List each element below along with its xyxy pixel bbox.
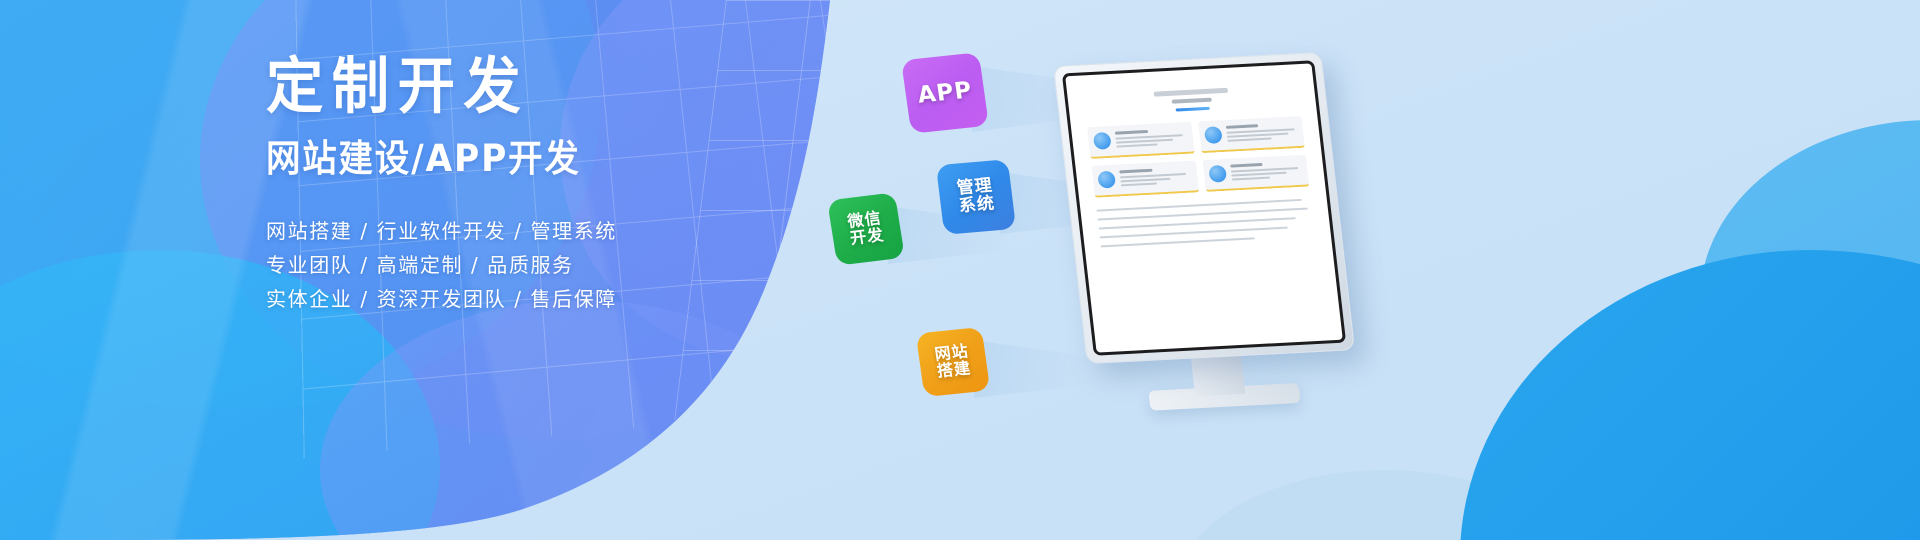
mockup-card-icon — [1093, 132, 1112, 150]
feature-line: 专业团队 / 高端定制 / 品质服务 — [266, 248, 786, 282]
mockup-paragraph-line — [1101, 237, 1255, 247]
monitor-illustration — [1053, 52, 1355, 364]
mockup-card-heading — [1225, 124, 1258, 129]
feature-list: 网站搭建 / 行业软件开发 / 管理系统 专业团队 / 高端定制 / 品质服务 … — [266, 214, 786, 316]
mockup-card-line — [1116, 143, 1158, 147]
mockup-subtitle-bar — [1172, 98, 1212, 104]
mockup-card-line — [1120, 173, 1186, 178]
mockup-card-line — [1230, 167, 1298, 173]
mockup-card-line — [1231, 172, 1287, 177]
service-card-wechat[interactable]: 微信 开发 — [827, 192, 905, 265]
mockup-card-body — [1225, 122, 1299, 144]
copy-block: 定制开发 网站建设/APP开发 网站搭建 / 行业软件开发 / 管理系统 专业团… — [266, 56, 786, 316]
headline: 定制开发 — [266, 56, 755, 117]
mockup-card-line — [1226, 133, 1288, 138]
mockup-card-line — [1121, 183, 1157, 187]
monitor-screen — [1065, 63, 1343, 352]
mockup-card-line — [1120, 178, 1170, 183]
mockup-card — [1092, 160, 1199, 197]
mockup-card-icon — [1203, 126, 1222, 144]
mockup-card-icon — [1208, 165, 1227, 183]
mockup-card-line — [1116, 139, 1173, 144]
service-card-web[interactable]: 网站 搭建 — [916, 327, 991, 397]
mockup-card — [1087, 122, 1194, 159]
monitor-bezel — [1053, 52, 1355, 364]
mockup-card-heading — [1230, 163, 1263, 168]
subheadline: 网站建设/APP开发 — [266, 140, 750, 177]
mockup-card-icon — [1097, 171, 1116, 189]
mockup-card-body — [1230, 161, 1304, 183]
service-card-app-line1: APP — [916, 78, 974, 108]
service-card-mgmt-line2: 系统 — [958, 195, 996, 216]
mockup-title-bar — [1154, 88, 1229, 97]
mockup-card — [1198, 116, 1305, 153]
mockup-card — [1202, 155, 1309, 192]
mockup-card-line — [1227, 138, 1272, 142]
service-card-web-line2: 搭建 — [936, 360, 972, 380]
monitor-inner-frame — [1062, 60, 1346, 355]
feature-line: 网站搭建 / 行业软件开发 / 管理系统 — [266, 214, 786, 248]
feature-line: 实体企业 / 资深开发团队 / 售后保障 — [266, 282, 786, 316]
mockup-card-heading — [1115, 130, 1148, 135]
mockup-card-line — [1231, 177, 1270, 181]
mockup-card-grid — [1087, 116, 1309, 198]
service-card-mgmt[interactable]: 管理 系统 — [936, 159, 1016, 235]
mockup-card-body — [1119, 167, 1193, 189]
mockup-card-body — [1115, 128, 1189, 150]
service-card-wechat-line2: 开发 — [849, 227, 885, 248]
promo-banner: 定制开发 网站建设/APP开发 网站搭建 / 行业软件开发 / 管理系统 专业团… — [0, 0, 1920, 540]
mockup-paragraph-line — [1100, 227, 1289, 239]
mockup-card-heading — [1119, 169, 1152, 174]
mockup-accent-rule — [1176, 107, 1210, 112]
service-card-app[interactable]: APP — [901, 52, 989, 133]
